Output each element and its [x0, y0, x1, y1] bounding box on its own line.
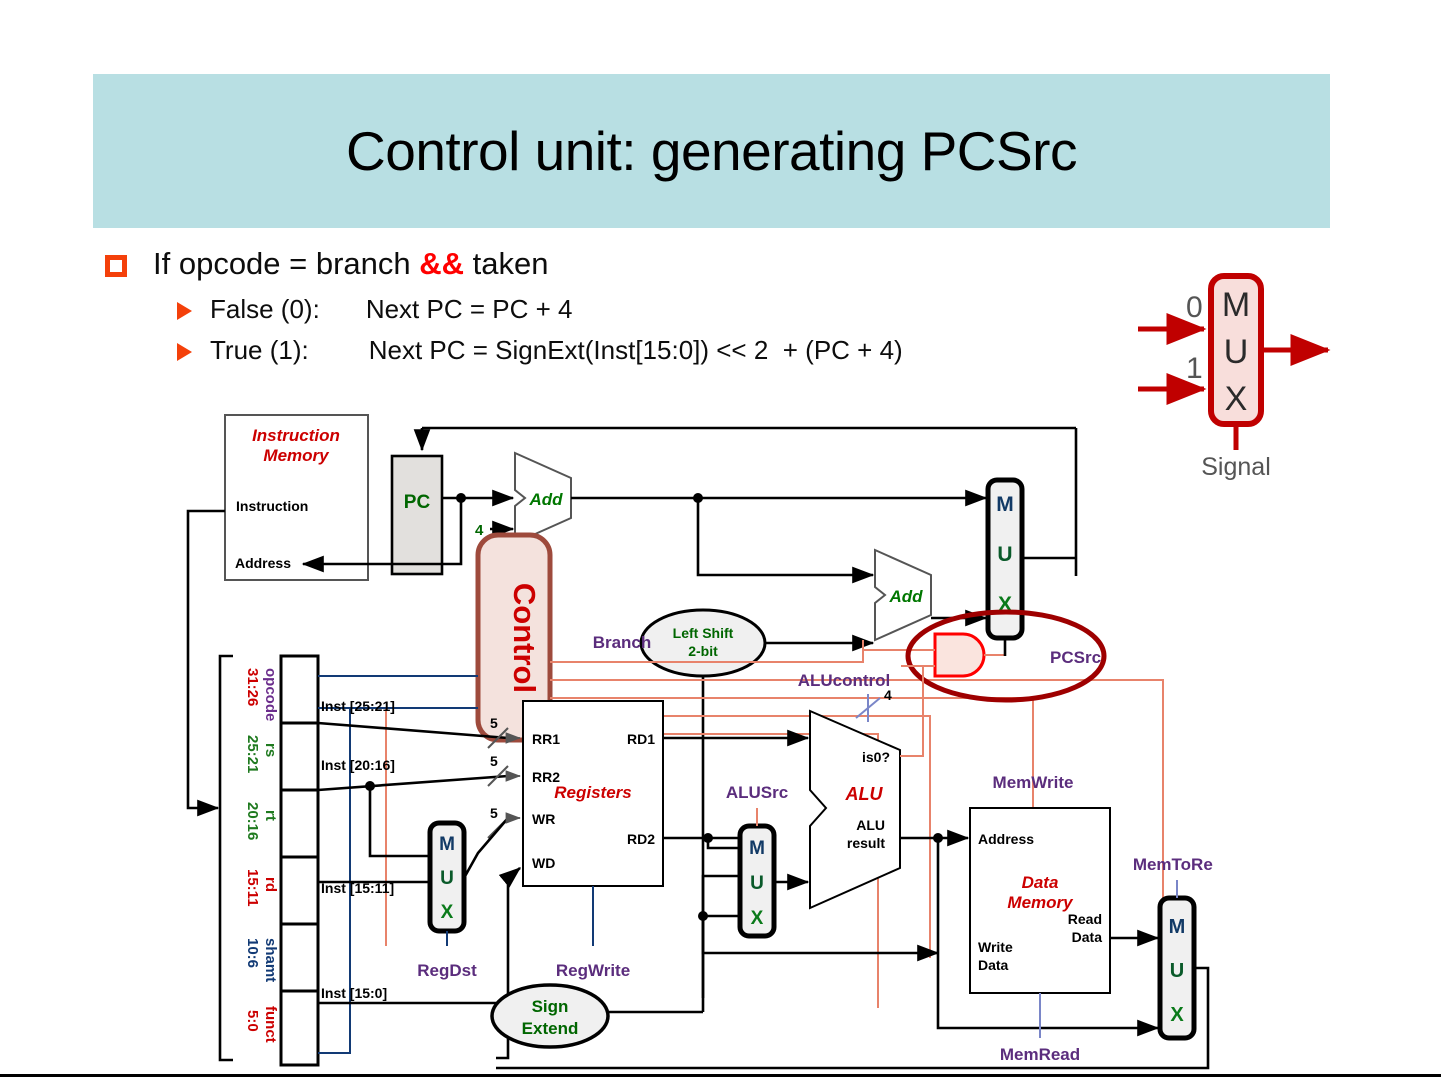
instruction-memory-title-1: Instruction [252, 426, 340, 445]
bus-width-wr: 5 [490, 805, 498, 821]
memtoreg-mux-letter-u: U [1170, 960, 1184, 982]
wd-input-arrow [508, 868, 520, 878]
registers-port-wr: WR [532, 811, 555, 827]
regdst-mux-letter-x: X [441, 902, 454, 923]
instruction-field-bar[interactable] [281, 656, 318, 1065]
bullet-sub-true-label: True (1): [210, 334, 309, 367]
footer-rule [0, 1074, 1441, 1077]
bullet-sub-false-label: False (0): [210, 293, 320, 326]
registers-port-rd1: RD1 [627, 731, 655, 747]
signal-label-memread: MemRead [1000, 1045, 1080, 1064]
memtoreg-mux-letter-m: M [1169, 916, 1186, 938]
alucontrol-width: 4 [884, 687, 892, 703]
field-name-funct: funct [262, 1006, 279, 1043]
signal-label-alusrc: ALUSrc [726, 783, 788, 802]
field-bracket [220, 656, 233, 1060]
data-memory-port-write-2: Data [978, 957, 1009, 973]
field-name-opcode: opcode [262, 668, 279, 721]
field-bits-rd: 15:11 [244, 869, 261, 907]
alusrc-mux-letter-x: X [751, 908, 764, 929]
bullet-sub-true-text: Next PC = SignExt(Inst[15:0]) << 2 + (PC… [369, 334, 903, 367]
bullet-list: If opcode = branch && taken False (0): N… [105, 245, 1155, 376]
pc-mux-letter-u: U [997, 543, 1012, 566]
mux-input1-label: 1 [1186, 352, 1203, 385]
alu-title: ALU [845, 784, 884, 804]
sign-extend-line1: Sign [532, 997, 569, 1016]
field-name-rd: rd [262, 877, 279, 892]
data-memory-port-write-1: Write [978, 939, 1013, 955]
arrow-bullet-icon [177, 343, 192, 361]
registers-port-rd2: RD2 [627, 831, 655, 847]
left-shift-line2: 2-bit [688, 643, 718, 659]
data-memory-title-1: Data [1022, 873, 1059, 892]
adder-pc4-label: Add [528, 490, 563, 509]
title-band: Control unit: generating PCSrc [93, 74, 1330, 228]
regdst-mux-out [464, 818, 508, 878]
regdst-mux-letter-m: M [439, 834, 455, 855]
data-memory-port-address: Address [978, 831, 1034, 847]
signal-label-alucontrol: ALUcontrol [798, 671, 891, 690]
field-name-rs: rs [262, 743, 279, 757]
alusrc-mux-letter-m: M [749, 838, 765, 859]
registers-title: Registers [554, 783, 631, 802]
arrow-bullet-icon [177, 302, 192, 320]
bullet-main: If opcode = branch && taken [105, 245, 1155, 284]
signal-mux-letter-m: M [1222, 286, 1250, 324]
signal-label-pcsrc: PCSrc [1050, 648, 1101, 667]
memtoreg-mux-letter-x: X [1170, 1004, 1184, 1026]
alusrc-mux-letter-u: U [750, 873, 764, 894]
alu-result-line1: ALU [856, 817, 885, 833]
bullet-sub-true: True (1): Next PC = SignExt(Inst[15:0]) … [177, 334, 1155, 367]
bullet-sub-false: False (0): Next PC = PC + 4 [177, 293, 1155, 326]
and-gate-output-wire [984, 638, 1005, 655]
field-name-rt: rt [262, 810, 279, 821]
registers-port-wd: WD [532, 855, 555, 871]
and-gate-pcsrc[interactable] [935, 634, 984, 676]
signal-label-branch: Branch [593, 633, 652, 652]
control-unit-label: Control [507, 583, 542, 693]
instruction-memory-port-address: Address [235, 555, 291, 571]
inst-tap-15-0: Inst [15:0] [321, 985, 387, 1001]
left-shift-line1: Left Shift [673, 625, 734, 641]
signal-mux-letter-x: X [1225, 380, 1248, 418]
bullet-main-emphasis: && [419, 246, 464, 281]
bus-width-rr1: 5 [490, 715, 498, 731]
rt-to-regdst-mux [370, 786, 428, 856]
data-memory-port-read-1: Read [1068, 911, 1102, 927]
registers-port-rr2: RR2 [532, 769, 560, 785]
datapath-diagram: Instruction Memory Instruction Address P… [178, 398, 1213, 1081]
field-bits-rt: 20:16 [244, 802, 261, 840]
mux-input0-label: 0 [1186, 291, 1203, 324]
regdst-mux-letter-u: U [440, 868, 454, 889]
adder-branch-label: Add [888, 587, 923, 606]
bus-width-rr2: 5 [490, 753, 498, 769]
field-bits-opcode: 31:26 [244, 668, 261, 706]
data-memory-title-2: Memory [1007, 893, 1074, 912]
signal-label-memtoreg: MemToReg [1133, 855, 1213, 874]
pc4-to-branch-adder [698, 498, 873, 575]
bullet-main-pre: If opcode = branch [153, 246, 419, 281]
inst-tap-25-21: Inst [25:21] [321, 698, 395, 714]
signal-label-regdst: RegDst [417, 961, 477, 980]
square-bullet-icon [105, 255, 127, 277]
field-bits-funct: 5:0 [244, 1010, 261, 1032]
field-name-shamt: shamt [262, 938, 279, 982]
bullet-sub-false-text: Next PC = PC + 4 [366, 293, 573, 326]
field-bits-rs: 25:21 [244, 735, 261, 773]
data-memory-port-read-2: Data [1072, 929, 1103, 945]
signal-label-memwrite: MemWrite [993, 773, 1074, 792]
alu-shape[interactable] [810, 711, 900, 908]
sign-extend-to-alusrc [703, 876, 738, 1012]
bullet-main-text: If opcode = branch && taken [153, 245, 549, 284]
registers-port-rr1: RR1 [532, 731, 560, 747]
instruction-memory-port-instruction: Instruction [236, 498, 308, 514]
field-bits-shamt: 10:6 [244, 938, 261, 968]
rt-tap-wire [318, 776, 508, 790]
page-title: Control unit: generating PCSrc [93, 74, 1330, 228]
bullet-main-post: taken [464, 246, 548, 281]
adder-pc4-constant: 4 [475, 522, 484, 539]
signal-mux-letter-u: U [1224, 333, 1249, 371]
instruction-memory-title-2: Memory [263, 446, 330, 465]
pc-label: PC [404, 492, 431, 513]
sign-extend-line2: Extend [522, 1019, 579, 1038]
pc-register-box[interactable] [392, 456, 442, 574]
signal-label-regwrite: RegWrite [556, 961, 630, 980]
alu-is0-port: is0? [862, 749, 890, 765]
pc-mux-letter-m: M [996, 493, 1014, 516]
alu-result-line2: result [847, 835, 885, 851]
inst-tap-20-16: Inst [20:16] [321, 757, 395, 773]
